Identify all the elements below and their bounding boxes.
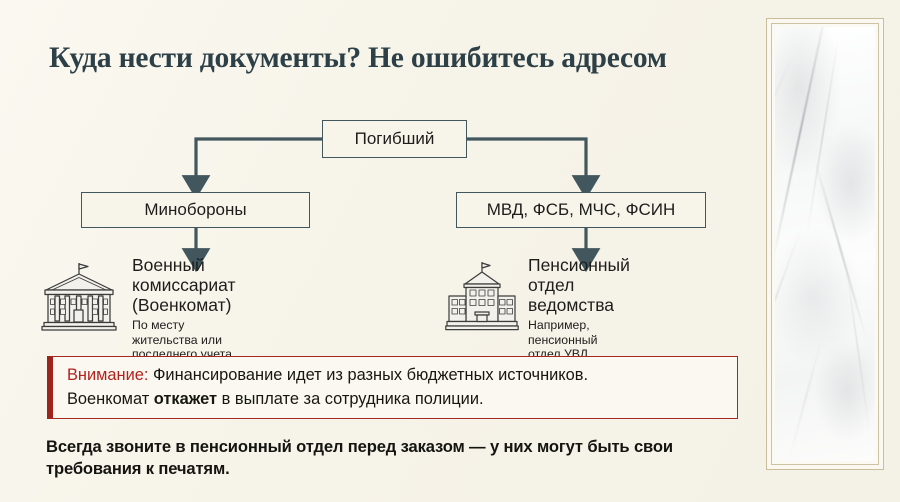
warning-line-2-post: в выплате за сотрудника полиции.: [217, 390, 483, 408]
warning-text: Внимание: Финансирование идет из разных …: [53, 364, 588, 411]
flow-node-other-agencies[interactable]: МВД, ФСБ, МЧС, ФСИН: [456, 192, 706, 228]
marble-vein: [807, 36, 840, 233]
flow-node-root[interactable]: Погибший: [322, 120, 467, 158]
flow-node-root-label: Погибший: [355, 129, 435, 149]
flow-node-right-label: МВД, ФСБ, МЧС, ФСИН: [487, 200, 676, 220]
flowchart: Погибший Минобороны МВД, ФСБ, МЧС, ФСИН: [0, 0, 760, 260]
warning-line-2: Военкомат откажет в выплате за сотрудник…: [67, 388, 588, 411]
destination-title: Военный комиссариат (Военкомат): [132, 256, 236, 316]
marble-vein: [775, 227, 802, 366]
government-building-tower-icon: [445, 260, 519, 337]
government-building-columns-icon: [40, 260, 118, 337]
marble-vein: [790, 339, 823, 457]
marble-vein: [775, 53, 794, 172]
flow-node-left-label: Минобороны: [144, 200, 246, 220]
panel-inner-frame: [771, 23, 879, 465]
warning-line-1-rest: Финансирование идет из разных бюджетных …: [148, 366, 588, 384]
marble-vein: [813, 157, 867, 341]
warning-label: Внимание:: [67, 366, 148, 384]
marble-decorative-panel: [766, 18, 884, 470]
destination-text: Пенсионный отдел ведомства Например, пен…: [528, 256, 630, 362]
marble-texture: [775, 27, 875, 461]
warning-callout: Внимание: Финансирование идет из разных …: [47, 356, 738, 419]
warning-line-2-pre: Военкомат: [67, 390, 154, 408]
warning-line-1: Внимание: Финансирование идет из разных …: [67, 364, 588, 387]
destination-title: Пенсионный отдел ведомства: [528, 256, 630, 316]
warning-line-2-emphasis: откажет: [154, 390, 217, 408]
slide-canvas: Куда нести документы? Не ошибитесь адрес…: [0, 0, 900, 502]
destination-text: Военный комиссариат (Военкомат) По месту…: [132, 256, 236, 362]
marble-vein: [845, 261, 871, 433]
flow-node-ministry-of-defence[interactable]: Минобороны: [81, 192, 310, 228]
bottom-note: Всегда звоните в пенсионный отдел перед …: [46, 436, 736, 480]
